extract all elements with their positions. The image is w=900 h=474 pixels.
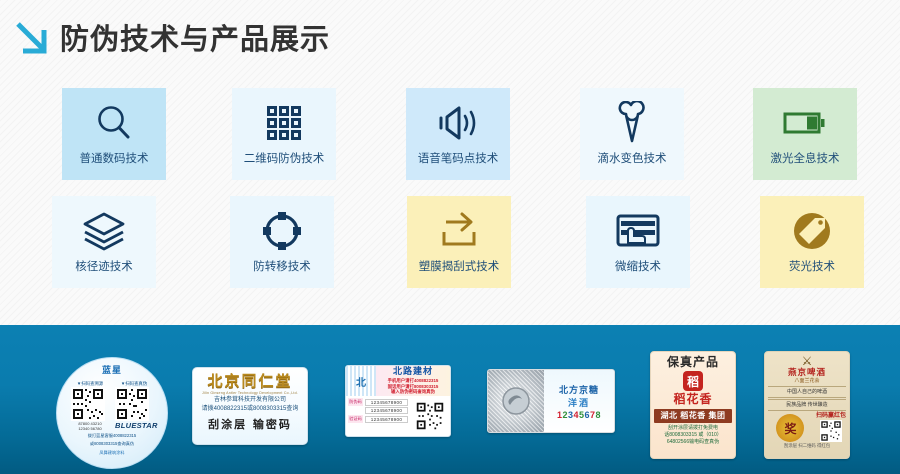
card-anti-transfer-technology[interactable]: 防转移技术 (230, 196, 334, 288)
beilu-line-3: 输入防伪密码查询真伪 (378, 389, 448, 395)
jingtang-line-2: 洋酒 (568, 396, 590, 409)
beilu-mark: 北 (346, 366, 376, 396)
tongrentang-hotline: 请拨4008822315或8008303315查询 (197, 405, 303, 414)
jingtang-line-1: 北方京糖 (559, 383, 599, 396)
daohuaxiang-footer-line-2: 话8008303315 或（010） (653, 432, 733, 439)
scratch-card-icon (615, 208, 661, 254)
battery-icon (782, 100, 828, 146)
beilu-number-1: 12345678900 (365, 399, 408, 406)
daohuaxiang-footer-line-1: 刮开涂层请拨打免费电 (653, 425, 733, 432)
jingtang-text: 北方京糖 洋酒 12345678 (544, 370, 614, 432)
beilu-qr-wrap (410, 396, 450, 435)
card-laser-hologram-technology[interactable]: 激光全息技术 (753, 88, 857, 180)
card-magnifier-technology[interactable]: 普通数码技术 (62, 88, 166, 180)
yanjing-line-1: 中国人自己的啤酒 (768, 386, 846, 398)
page-header: 防伪技术与产品展示 (0, 8, 900, 70)
beilu-codes: 防伪码 12345678900 x 12345678900 验证码 123456… (346, 396, 410, 435)
beilu-line-1: 手机用户请打4008822315 (378, 378, 448, 384)
speaker-icon (436, 100, 480, 146)
card-microprint-technology[interactable]: 微缩技术 (586, 196, 690, 288)
yanjing-line-2: 民族品牌 传世酿造 (768, 399, 846, 411)
qr-code-icon (820, 420, 842, 442)
beilu-code-row: 验证码 12345678900 (348, 415, 408, 423)
arrow-out-icon (436, 208, 482, 254)
product-beilu-jiancai-label[interactable]: 北 北路建材 手机用户请打4008822315 固话用户请打8008303315… (345, 365, 451, 437)
product-showcase-band: 蓝星 ▼扫码查溯源 (0, 325, 900, 474)
circle-knobs-icon (261, 208, 303, 254)
card-label: 激光全息技术 (771, 150, 840, 166)
yanjing-brand: 燕京啤酒 (768, 367, 846, 378)
layers-icon (81, 208, 127, 254)
bluestar-qr-right: ▼扫码查真伪 (115, 381, 153, 431)
qr-grid-icon (263, 100, 305, 146)
daohuaxiang-footer-line-3: 64802566输电码查真伪 (653, 439, 733, 446)
card-label: 普通数码技术 (80, 150, 149, 166)
card-label: 语音笔码点技术 (418, 150, 499, 166)
beilu-number-3: 12345678900 (365, 416, 408, 423)
card-label: 核径迹技术 (75, 258, 133, 274)
tongrentang-title: 北京同仁堂 (197, 372, 303, 390)
daohuaxiang-company-bar: 湖北 稻花香 集团 (654, 409, 732, 423)
daohuaxiang-logo: 稻 (683, 371, 703, 391)
beilu-header: 北 北路建材 手机用户请打4008822315 固话用户请打8008303315… (346, 366, 450, 396)
bluestar-code-line-2: 12340 56780 (71, 426, 109, 431)
card-row-2: 核径迹技术 防转移技术 (0, 188, 900, 296)
bluestar-brand-row: 蓝星 (57, 358, 167, 380)
page-title: 防伪技术与产品展示 (60, 25, 330, 54)
beilu-mark-text: 北 (356, 374, 366, 389)
bluestar-wordmark: BLUESTAR (115, 421, 153, 430)
card-label: 微缩技术 (615, 258, 661, 274)
beilu-code-row: x 12345678900 (348, 407, 408, 414)
magnifier-icon (93, 100, 135, 146)
card-voice-dotcode-technology[interactable]: 语音笔码点技术 (406, 88, 510, 180)
card-label: 二维码防伪技术 (244, 150, 325, 166)
hologram-emblem (488, 370, 544, 432)
beilu-tag-1: 防伪码 (348, 398, 363, 406)
beilu-code-row: 防伪码 12345678900 (348, 398, 408, 406)
tongrentang-company: 吉林参茸科技开发有限公司 (197, 396, 303, 405)
card-label: 塑膜揭刮式技术 (419, 258, 500, 274)
product-yanjing-beer-label[interactable]: ⚔ 燕京啤酒 八面兰花会 中国人自己的啤酒 民族品牌 传世酿造 奖 扫码赢红包 (764, 351, 850, 459)
card-label: 荧光技术 (789, 258, 835, 274)
page-root: 防伪技术与产品展示 普通数码技术 (0, 0, 900, 474)
qr-code-icon (415, 401, 445, 431)
product-beifang-jingtang-label[interactable]: 北方京糖 洋酒 12345678 (487, 369, 615, 433)
product-bluestar-round-label[interactable]: 蓝星 ▼扫码查溯源 (56, 357, 168, 469)
beilu-number-2: 12345678900 (365, 407, 408, 414)
tag-circle-icon (791, 208, 833, 254)
jingtang-number: 12345678 (557, 410, 601, 420)
card-waterdrop-colorchange-technology[interactable]: 滴水变色技术 (580, 88, 684, 180)
card-film-peel-scratch-technology[interactable]: 塑膜揭刮式技术 (407, 196, 511, 288)
tongrentang-action: 刮涂层 输密码 (197, 416, 303, 432)
swirl-emblem-icon (499, 384, 533, 418)
crest-icon: ⚔ (768, 355, 846, 367)
daohuaxiang-heading: 保真产品 (653, 354, 733, 370)
bluestar-footer-line-1: 拨打蓝星客服4008822315 (57, 433, 167, 439)
beilu-tag-2: 验证码 (348, 415, 363, 423)
bluestar-footer-line-2: 或8008303315查询真伪 (57, 441, 167, 447)
card-fluorescence-technology[interactable]: 荧光技术 (760, 196, 864, 288)
bluestar-brand: 蓝星 (102, 363, 122, 376)
prize-badge: 奖 (776, 414, 804, 442)
card-label: 滴水变色技术 (598, 150, 667, 166)
yanjing-slogan-cn: 八面兰花会 (768, 378, 846, 385)
ice-cream-cone-icon (611, 100, 653, 146)
beilu-header-text: 北路建材 手机用户请打4008822315 固话用户请打8008303315 输… (376, 366, 450, 396)
beilu-title: 北路建材 (378, 367, 448, 378)
bluestar-arc-text: 凤舞建筑涂料 (57, 450, 167, 456)
daohuaxiang-brand: 稻花香 (653, 391, 733, 407)
yanjing-footer: 刮涂层 扫二维码 得红包 (768, 442, 846, 449)
qr-code-icon (71, 387, 105, 421)
yanjing-prize-row: 奖 扫码赢红包 (768, 412, 846, 442)
qr-code-icon (115, 387, 149, 421)
yanjing-scan-text: 扫码赢红包 (816, 412, 846, 420)
card-qrcode-technology[interactable]: 二维码防伪技术 (232, 88, 336, 180)
card-row-1: 普通数码技术 (0, 80, 900, 188)
product-beijing-tongrentang-card[interactable]: 北京同仁堂 Jilin Ginseng Antler Technology De… (192, 367, 308, 445)
beilu-body: 防伪码 12345678900 x 12345678900 验证码 123456… (346, 396, 450, 435)
arrow-down-right-icon (12, 18, 52, 60)
bluestar-qr-left: ▼扫码查溯源 (71, 381, 109, 431)
technology-card-grid: 普通数码技术 (0, 80, 900, 296)
bluestar-qr-row: ▼扫码查溯源 (57, 381, 167, 431)
card-nuclear-track-technology[interactable]: 核径迹技术 (52, 196, 156, 288)
card-label: 防转移技术 (253, 258, 311, 274)
product-daohuaxiang-label[interactable]: 保真产品 稻 稻花香 湖北 稻花香 集团 刮开涂层请拨打免费电 话8008303… (650, 351, 736, 459)
